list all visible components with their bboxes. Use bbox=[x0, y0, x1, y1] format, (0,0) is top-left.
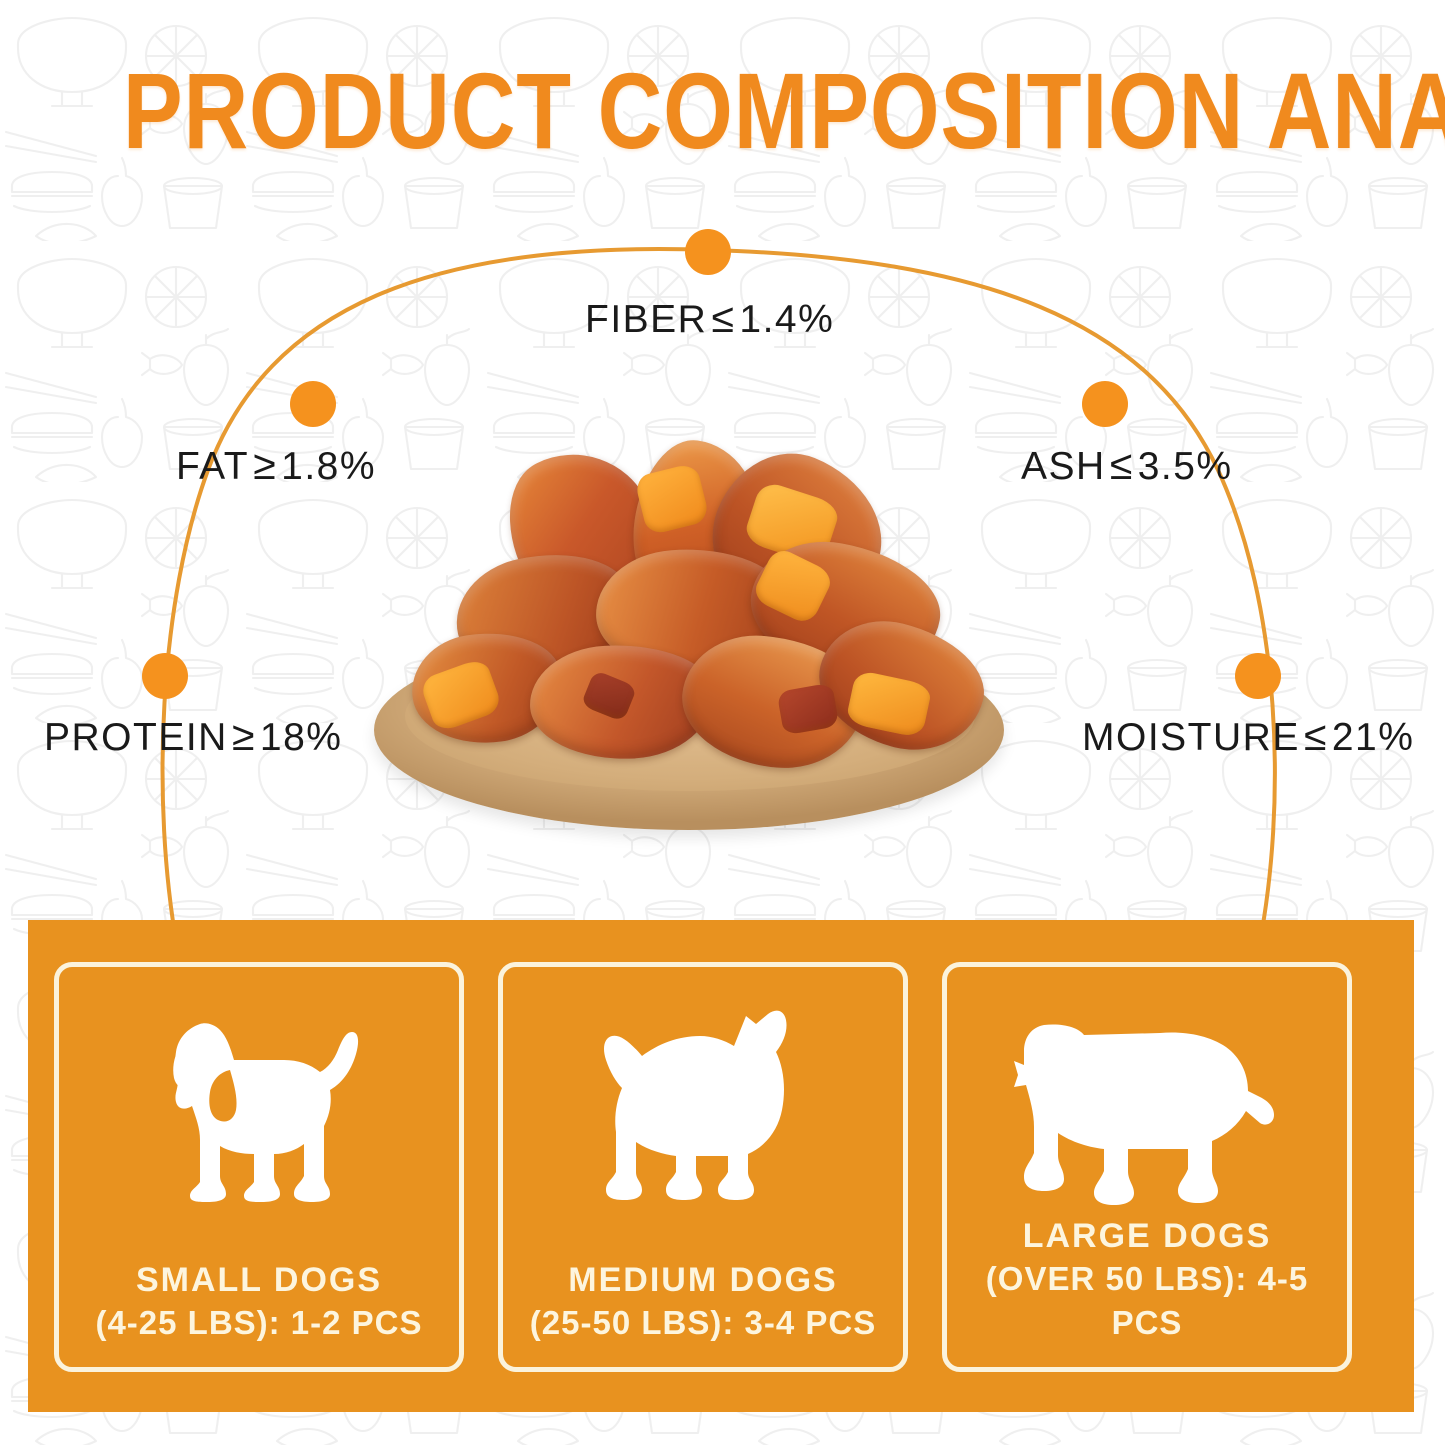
infographic-root: PRODUCT COMPOSITION ANALYSIS FIBER≤1.4% … bbox=[0, 0, 1445, 1445]
feeding-guide-panel: SMALL DOGS (4-25 LBS): 1-2 PCS MEDIUM DO… bbox=[28, 920, 1414, 1412]
feeding-card-subtitle: (OVER 50 LBS): 4-5 PCS bbox=[947, 1257, 1347, 1345]
nutrient-label-fiber: FIBER≤1.4% bbox=[585, 295, 834, 342]
nutrient-name: PROTEIN bbox=[44, 716, 228, 759]
product-photo bbox=[330, 415, 1050, 845]
nutrient-dot-protein bbox=[142, 653, 188, 699]
feeding-card-title: MEDIUM DOGS bbox=[568, 1259, 837, 1301]
feeding-card-title: SMALL DOGS bbox=[136, 1259, 382, 1301]
feeding-card-medium-dogs[interactable]: MEDIUM DOGS (25-50 LBS): 3-4 PCS bbox=[498, 962, 908, 1372]
feeding-card-subtitle: (25-50 LBS): 3-4 PCS bbox=[530, 1301, 876, 1345]
nutrient-operator: ≥ bbox=[228, 713, 260, 759]
nutrient-name: FAT bbox=[176, 445, 249, 488]
nutrient-operator: ≤ bbox=[1106, 442, 1138, 488]
nutrient-value: 21% bbox=[1332, 716, 1415, 759]
nutrient-label-protein: PROTEIN≥18% bbox=[44, 713, 342, 760]
nutrient-dot-fiber bbox=[685, 229, 731, 275]
nutrient-name: FIBER bbox=[585, 298, 707, 341]
large-dog-icon bbox=[997, 991, 1297, 1231]
nutrient-operator: ≤ bbox=[707, 295, 739, 341]
nutrient-operator: ≥ bbox=[249, 442, 281, 488]
nutrient-value: 1.4% bbox=[739, 298, 834, 341]
nutrient-value: 3.5% bbox=[1138, 445, 1233, 488]
nutrient-label-ash: ASH≤3.5% bbox=[1021, 442, 1233, 489]
feeding-card-large-dogs[interactable]: LARGE DOGS (OVER 50 LBS): 4-5 PCS bbox=[942, 962, 1352, 1372]
nutrient-dot-ash bbox=[1082, 381, 1128, 427]
nutrient-dot-moisture bbox=[1235, 653, 1281, 699]
medium-dog-icon bbox=[553, 991, 853, 1231]
nutrient-label-moisture: MOISTURE≤21% bbox=[1082, 713, 1414, 760]
feeding-card-subtitle: (4-25 LBS): 1-2 PCS bbox=[95, 1301, 422, 1345]
nutrient-operator: ≤ bbox=[1300, 713, 1332, 759]
nutrient-name: MOISTURE bbox=[1082, 716, 1300, 759]
small-dog-icon bbox=[109, 991, 409, 1231]
feeding-card-small-dogs[interactable]: SMALL DOGS (4-25 LBS): 1-2 PCS bbox=[54, 962, 464, 1372]
